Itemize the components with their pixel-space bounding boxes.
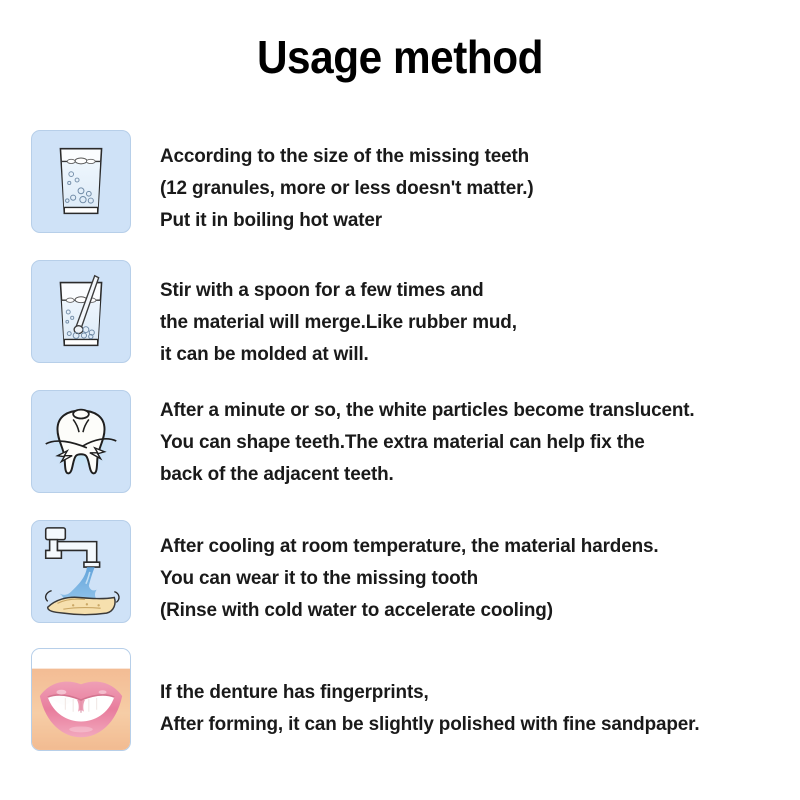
step-row-1: According to the size of the missing tee… xyxy=(0,130,800,236)
step-2-line-3: it can be molded at will. xyxy=(160,338,517,370)
step-row-5: If the denture has fingerprints, After f… xyxy=(0,648,800,751)
step-3-line-1: After a minute or so, the white particle… xyxy=(160,394,695,426)
step-1-line-1: According to the size of the missing tee… xyxy=(160,140,534,172)
step-2-line-2: the material will merge.Like rubber mud, xyxy=(160,306,517,338)
step-4-line-3: (Rinse with cold water to accelerate coo… xyxy=(160,594,658,626)
step-1-line-3: Put it in boiling hot water xyxy=(160,204,534,236)
step-row-4: After cooling at room temperature, the m… xyxy=(0,520,800,626)
step-1-text: According to the size of the missing tee… xyxy=(160,130,534,236)
glass-of-water-icon xyxy=(31,130,131,233)
step-5-line-1: If the denture has fingerprints, xyxy=(160,676,699,708)
step-2-text: Stir with a spoon for a few times and th… xyxy=(160,260,517,370)
shiny-tooth-icon xyxy=(31,390,131,493)
step-5-line-2: After forming, it can be slightly polish… xyxy=(160,708,699,740)
step-1-line-2: (12 granules, more or less doesn't matte… xyxy=(160,172,534,204)
step-5-text: If the denture has fingerprints, After f… xyxy=(160,648,699,740)
step-4-line-1: After cooling at room temperature, the m… xyxy=(160,530,658,562)
step-row-3: After a minute or so, the white particle… xyxy=(0,390,800,493)
step-3-line-2: You can shape teeth.The extra material c… xyxy=(160,426,695,458)
faucet-washing-hands-icon xyxy=(31,520,131,623)
step-3-text: After a minute or so, the white particle… xyxy=(160,390,695,490)
smiling-mouth-icon xyxy=(31,648,131,751)
page-title: Usage method xyxy=(32,30,768,84)
usage-method-infographic: Usage method xyxy=(0,0,800,800)
glass-with-spoon-icon xyxy=(31,260,131,363)
step-2-line-1: Stir with a spoon for a few times and xyxy=(160,274,517,306)
step-4-line-2: You can wear it to the missing tooth xyxy=(160,562,658,594)
step-row-2: Stir with a spoon for a few times and th… xyxy=(0,260,800,370)
step-3-line-3: back of the adjacent teeth. xyxy=(160,458,695,490)
step-4-text: After cooling at room temperature, the m… xyxy=(160,520,658,626)
